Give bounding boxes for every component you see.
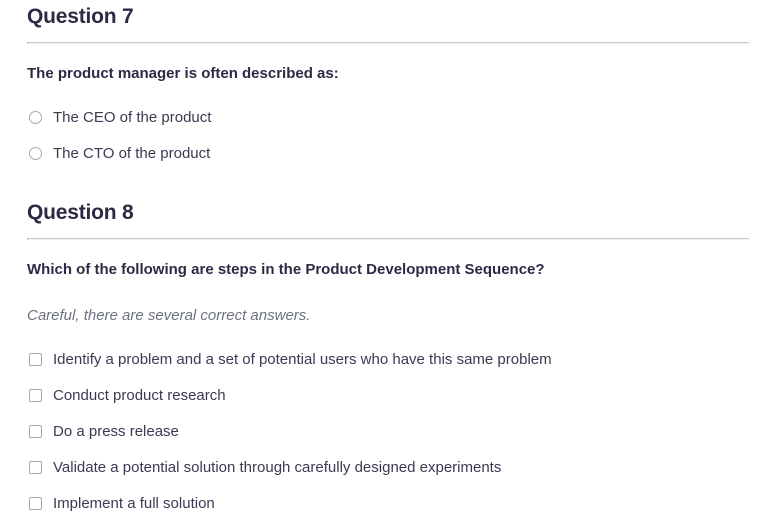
option-label: Identify a problem and a set of potentia… <box>53 351 552 369</box>
option-label: Do a press release <box>53 423 179 441</box>
checkbox-icon[interactable] <box>29 353 42 366</box>
option-label: The CEO of the product <box>53 109 211 127</box>
option-row[interactable]: The CTO of the product <box>29 146 211 161</box>
option-row[interactable]: Conduct product research <box>29 388 552 403</box>
checkbox-icon[interactable] <box>29 389 42 402</box>
radio-button-icon[interactable] <box>29 111 42 124</box>
checkbox-icon[interactable] <box>29 461 42 474</box>
question-divider <box>27 238 749 240</box>
question-prompt: The product manager is often described a… <box>27 64 339 84</box>
answer-options-list: Identify a problem and a set of potentia… <box>29 352 552 532</box>
question-heading: Question 7 <box>27 6 134 27</box>
option-row[interactable]: Do a press release <box>29 424 552 439</box>
quiz-page: Question 7 The product manager is often … <box>0 0 767 525</box>
option-label: Conduct product research <box>53 387 226 405</box>
option-row[interactable]: Implement a full solution <box>29 496 552 511</box>
option-label: The CTO of the product <box>53 145 210 163</box>
question-divider <box>27 42 749 44</box>
checkbox-icon[interactable] <box>29 425 42 438</box>
question-hint: Careful, there are several correct answe… <box>27 306 310 326</box>
option-row[interactable]: Validate a potential solution through ca… <box>29 460 552 475</box>
answer-options-list: The CEO of the product The CTO of the pr… <box>29 110 211 182</box>
radio-button-icon[interactable] <box>29 147 42 160</box>
option-row[interactable]: Identify a problem and a set of potentia… <box>29 352 552 367</box>
option-label: Implement a full solution <box>53 495 215 513</box>
question-heading: Question 8 <box>27 202 134 223</box>
question-prompt: Which of the following are steps in the … <box>27 260 545 280</box>
option-row[interactable]: The CEO of the product <box>29 110 211 125</box>
checkbox-icon[interactable] <box>29 497 42 510</box>
option-label: Validate a potential solution through ca… <box>53 459 501 477</box>
